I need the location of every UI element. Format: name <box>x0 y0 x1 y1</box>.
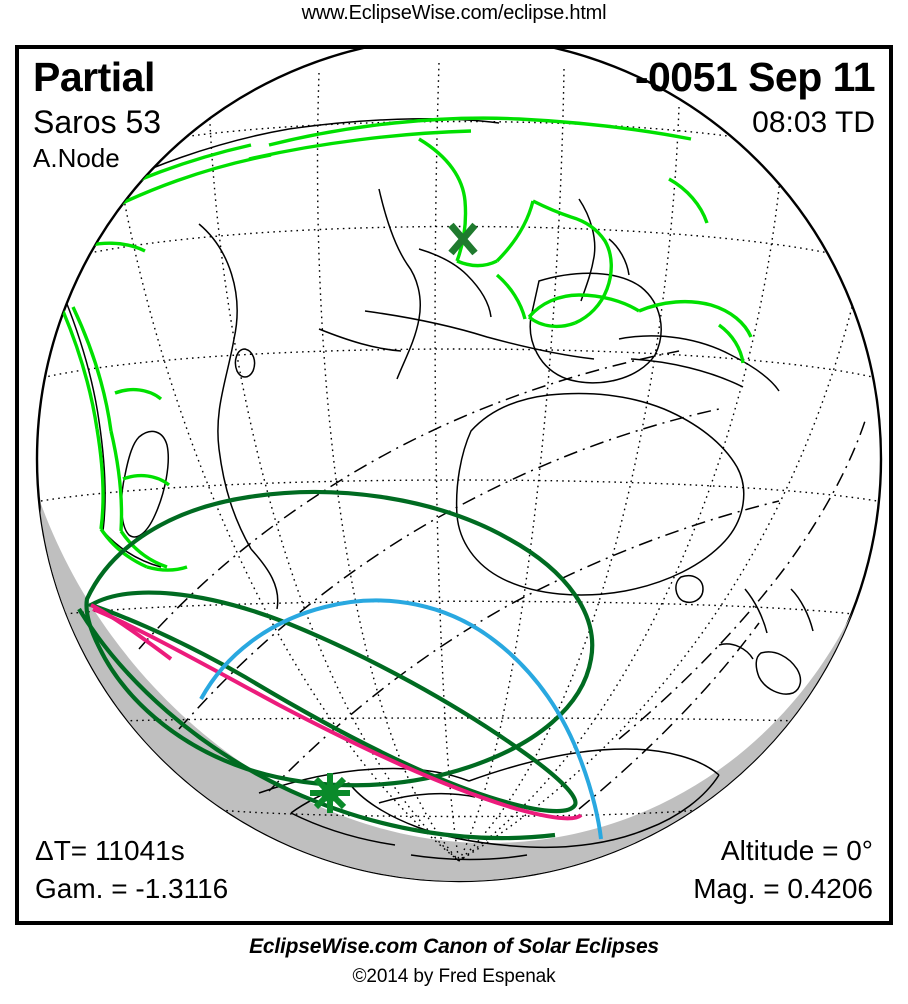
delta-t-label: ΔT= 11041s <box>35 837 185 865</box>
gamma-label: Gam. = -1.3116 <box>35 875 228 903</box>
globe-svg <box>19 49 889 921</box>
eclipse-map-page: www.EclipseWise.com/eclipse.html <box>0 0 908 1004</box>
node-label: A.Node <box>33 145 120 171</box>
saros-label: Saros 53 <box>33 106 161 138</box>
eclipse-type-label: Partial <box>33 57 155 98</box>
magnitude-label: Mag. = 0.4206 <box>693 875 873 903</box>
eclipse-map-frame: Partial Saros 53 A.Node -0051 Sep 11 08:… <box>15 45 893 925</box>
eclipse-date-label: -0051 Sep 11 <box>635 57 875 98</box>
footer-title: EclipseWise.com Canon of Solar Eclipses <box>0 935 908 959</box>
altitude-label: Altitude = 0° <box>721 837 873 865</box>
globe-container <box>19 49 889 921</box>
footer-credit: ©2014 by Fred Espenak <box>0 966 908 988</box>
source-url: www.EclipseWise.com/eclipse.html <box>0 2 908 25</box>
greatest-eclipse-marker <box>310 773 350 813</box>
eclipse-time-label: 08:03 TD <box>752 108 875 138</box>
